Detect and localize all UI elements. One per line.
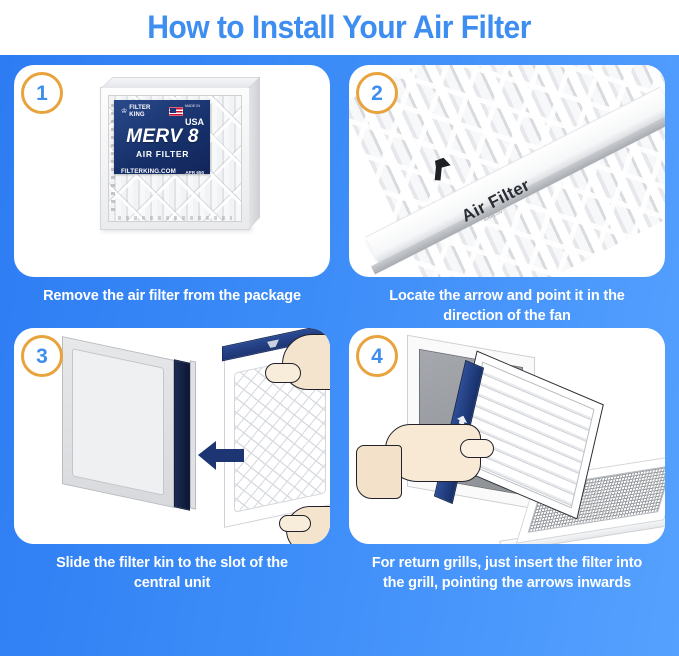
label-bottom-row: FILTERKING.COM APR 650	[121, 168, 204, 175]
label-top-row: ♔ FILTER KING MADE IN	[121, 104, 204, 119]
central-unit-slot-inner	[72, 348, 164, 496]
filter-right-face	[249, 77, 260, 229]
apr-value: APR 650	[185, 170, 204, 175]
made-in-usa-lockup: MADE IN USA	[169, 94, 204, 130]
central-unit-outer-edge	[190, 360, 196, 509]
air-filter-photo: ♔ FILTER KING MADE IN	[100, 87, 250, 230]
step-4-card: 4	[349, 328, 665, 544]
country-label: USA	[185, 117, 204, 127]
step-2: 2 Air Filter AIRFLOW	[349, 65, 665, 326]
step-2-card: 2 Air Filter AIRFLOW	[349, 65, 665, 277]
step-2-badge: 2	[356, 72, 398, 114]
product-type: AIR FILTER	[121, 149, 204, 159]
step-1-badge: 1	[21, 72, 63, 114]
filter-top-face	[101, 77, 260, 88]
steps-stage: 1 ♔	[0, 55, 679, 656]
page-header: How to Install Your Air Filter	[0, 0, 679, 55]
brand-name: FILTER KING	[129, 105, 150, 118]
brand-lockup: ♔ FILTER KING	[121, 105, 150, 118]
brand-line-2: KING	[129, 112, 144, 118]
made-in-usa-text: MADE IN USA	[185, 94, 204, 130]
hand-lower	[286, 506, 330, 544]
filter-perforation-bottom	[118, 216, 232, 220]
step-1: 1 ♔	[14, 65, 330, 326]
central-unit-slot	[62, 336, 174, 508]
hand-holding-filter	[385, 424, 481, 482]
step-1-card: 1 ♔	[14, 65, 330, 277]
made-in-label: MADE IN	[185, 104, 200, 108]
step-4-caption: For return grills, just insert the filte…	[349, 544, 665, 593]
central-unit-dark-slot	[174, 359, 190, 510]
step-4: 4 For return grills, just insert the fil	[349, 328, 665, 593]
step-3-card: 3	[14, 328, 330, 544]
product-label: ♔ FILTER KING MADE IN	[114, 100, 210, 174]
step-4-badge: 4	[356, 335, 398, 377]
crown-icon: ♔	[121, 108, 127, 115]
website-url: FILTERKING.COM	[121, 168, 176, 175]
page-title: How to Install Your Air Filter	[148, 9, 532, 46]
usa-flag-icon	[169, 107, 183, 116]
step-3: 3	[14, 328, 330, 593]
steps-grid: 1 ♔	[14, 65, 665, 593]
slide-direction-arrow-icon	[198, 440, 244, 477]
step-3-caption: Slide the filter kin to the slot of the …	[14, 544, 330, 593]
step-2-caption: Locate the arrow and point it in the dir…	[349, 277, 665, 326]
step-3-badge: 3	[21, 335, 63, 377]
brand-line-1: FILTER	[129, 105, 150, 111]
merv-rating: MERV 8	[121, 126, 204, 148]
step-1-caption: Remove the air filter from the package	[14, 277, 330, 306]
